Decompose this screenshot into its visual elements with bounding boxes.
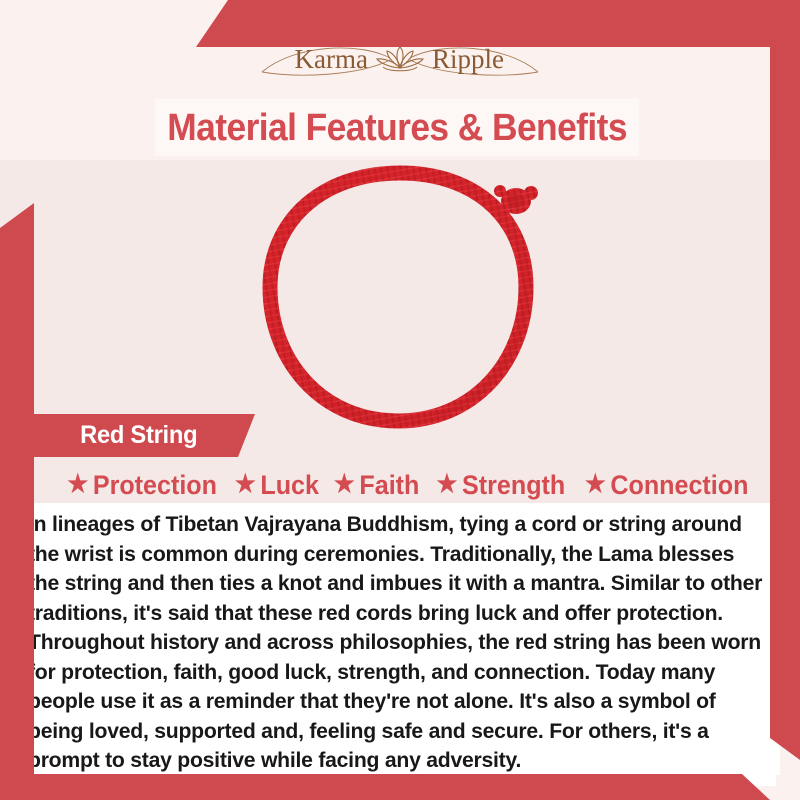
benefit-label: Strength (462, 472, 565, 499)
benefit-item: ★ Luck (226, 472, 318, 499)
benefit-item: ★ Strength (428, 472, 565, 499)
frame-right (770, 0, 800, 800)
star-icon: ★ (67, 472, 88, 497)
star-icon: ★ (334, 472, 355, 497)
bracelet-photo (230, 155, 570, 445)
frame-bottom (0, 774, 800, 800)
benefit-label: Protection (92, 472, 216, 499)
brand-name-left: Karma (295, 44, 368, 74)
star-icon: ★ (234, 472, 255, 497)
benefits-row: ★ Protection ★ Luck ★ Faith ★ Strength ★… (34, 466, 774, 504)
title-panel: Material Features & Benefits (155, 99, 639, 156)
star-icon: ★ (437, 472, 458, 497)
page-title: Material Features & Benefits (167, 109, 627, 147)
description-paragraph: In lineages of Tibetan Vajrayana Buddhis… (28, 510, 765, 776)
description-block: In lineages of Tibetan Vajrayana Buddhis… (28, 506, 776, 786)
star-icon: ★ (585, 472, 606, 497)
benefit-label: Luck (260, 472, 319, 499)
material-label-text: Red String (80, 421, 197, 450)
benefit-item: ★ Connection (577, 472, 749, 499)
material-label-ribbon: Red String (20, 414, 255, 457)
benefit-item: ★ Faith (326, 472, 420, 499)
benefit-label: Faith (359, 472, 419, 499)
lotus-icon (377, 47, 423, 71)
brand-logo: Karma Ripple (0, 36, 800, 84)
brand-name-right: Ripple (432, 44, 504, 74)
benefit-label: Connection (611, 472, 749, 499)
poster: Karma Ripple Material Features & Benefit… (0, 0, 800, 800)
benefit-item: ★ Protection (59, 472, 217, 499)
